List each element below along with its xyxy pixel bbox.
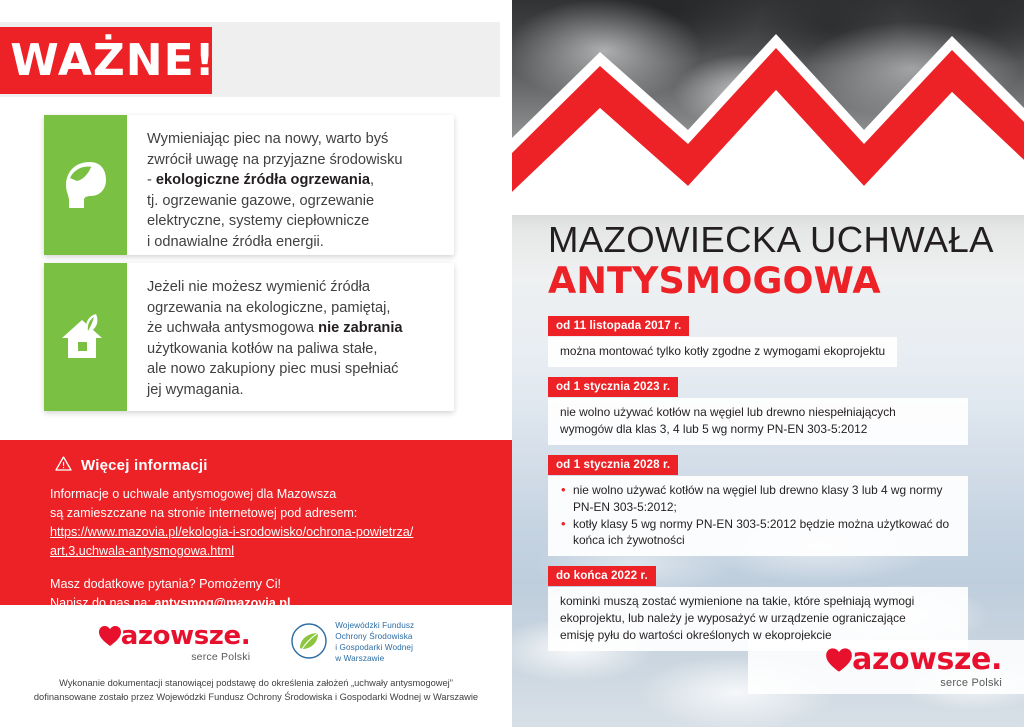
card2-line-2-bold: nie zabrania <box>318 320 402 336</box>
red-zigzag-mountain-icon <box>512 0 1024 215</box>
mazowsze-tagline: serce Polski <box>191 651 250 663</box>
card1-line-3: tj. ogrzewanie gazowe, ogrzewanie <box>147 193 374 209</box>
timeline-body: można montować tylko kotły zgodne z wymo… <box>548 337 897 367</box>
eco-sources-text: Wymieniając piec na nowy, warto byś zwró… <box>127 115 454 255</box>
leaf-circle-icon <box>290 622 328 665</box>
card2-line-0: Jeżeli nie możesz wymienić źródła <box>147 279 370 295</box>
timeline-0-line-0: można montować tylko kotły zgodne z wymo… <box>560 343 885 360</box>
card2-line-3: użytkowania kotłów na paliwa stałe, <box>147 341 377 357</box>
contact-email[interactable]: antysmog@mazovia.pl <box>154 596 290 610</box>
important-badge: WAŻNE! <box>0 27 212 94</box>
card2-line-2-prefix: że uchwała antysmogowa <box>147 320 318 336</box>
card1-line-4: elektryczne, systemy ciepłownicze <box>147 213 369 229</box>
timeline-3-line-1: ekoprojektu, lub należy je wyposażyć w u… <box>560 610 956 627</box>
info-line-4-prefix: Napisz do nas na: <box>50 596 154 610</box>
wfos-logo: Wojewódzki Fundusz Ochrony Środowiska i … <box>290 621 414 665</box>
card1-line-2-bold: ekologiczne źródła ogrzewania <box>156 172 370 188</box>
mazowsze-heart-icon <box>825 647 852 673</box>
wfos-line-3: w Warszawie <box>335 654 414 665</box>
funding-note-line-1: Wykonanie dokumentacji stanowiącej podst… <box>10 676 502 690</box>
timeline-date-badge: do końca 2022 r. <box>548 566 656 586</box>
brochure-page: WAŻNE! Wymieniając piec na nowy, warto b… <box>0 0 1024 727</box>
solid-fuel-text: Jeżeli nie możesz wymienić źródła ogrzew… <box>127 263 454 411</box>
solid-fuel-card: Jeżeli nie możesz wymienić źródła ogrzew… <box>44 263 454 411</box>
mazovia-url-line-2[interactable]: art,3,uchwala-antysmogowa.html <box>50 542 480 561</box>
card2-line-4: ale nowo zakupiony piec musi spełniać <box>147 361 398 377</box>
info-line-3: Masz dodatkowe pytania? Pomożemy Ci! <box>50 577 281 591</box>
right-panel: MAZOWIECKA UCHWAŁA ANTYSMOGOWA od 11 lis… <box>512 0 1024 727</box>
card1-line-1: zwrócił uwagę na przyjazne środowisku <box>147 152 403 168</box>
info-line-1: Informacje o uchwale antysmogowej dla Ma… <box>50 487 336 501</box>
important-badge-label: WAŻNE! <box>0 39 224 83</box>
timeline-date-badge: od 1 stycznia 2028 r. <box>548 455 678 475</box>
eco-sources-card: Wymieniając piec na nowy, warto byś zwró… <box>44 115 454 255</box>
wfos-logo-text: Wojewódzki Fundusz Ochrony Środowiska i … <box>335 621 414 665</box>
mazowsze-word-text: azowsze. <box>852 645 1002 675</box>
card1-line-0: Wymieniając piec na nowy, warto byś <box>147 131 388 147</box>
timeline-item: od 11 listopada 2017 r. można montować t… <box>548 316 968 367</box>
main-title: MAZOWIECKA UCHWAŁA ANTYSMOGOWA <box>548 220 1018 302</box>
timeline-item: od 1 stycznia 2023 r. nie wolno używać k… <box>548 377 968 445</box>
card1-line-2-suffix: , <box>370 172 374 188</box>
mazowsze-word-text: azowsze. <box>121 623 250 649</box>
card2-line-5: jej wymagania. <box>147 382 244 398</box>
mazowsze-wordmark: azowsze. <box>825 645 1002 675</box>
wfos-line-1: Ochrony Środowiska <box>335 632 414 643</box>
mazowsze-heart-icon <box>98 625 121 647</box>
funding-note: Wykonanie dokumentacji stanowiącej podst… <box>0 676 512 705</box>
timeline-3-line-0: kominki muszą zostać wymienione na takie… <box>560 593 956 610</box>
wfos-line-2: i Gospodarki Wodnej <box>335 643 414 654</box>
timeline-item: od 1 stycznia 2028 r. nie wolno używać k… <box>548 455 968 557</box>
timeline-body: nie wolno używać kotłów na węgiel lub dr… <box>548 398 968 445</box>
timeline-body: nie wolno używać kotłów na węgiel lub dr… <box>548 476 968 557</box>
mazowsze-logo-right: azowsze. serce Polski <box>748 640 1024 694</box>
wfos-line-0: Wojewódzki Fundusz <box>335 621 414 632</box>
title-line-1: MAZOWIECKA UCHWAŁA <box>548 220 1018 259</box>
footer-logos: azowsze. serce Polski Wojewódzki Fundusz… <box>0 614 512 672</box>
more-info-body: Informacje o uchwale antysmogowej dla Ma… <box>50 485 480 613</box>
timeline-2-item-1: kotły klasy 5 wg normy PN-EN 303-5:2012 … <box>560 516 956 550</box>
house-leaf-icon <box>44 263 127 411</box>
card2-line-1: ogrzewania na ekologiczne, pamiętaj, <box>147 300 390 316</box>
mazowsze-wordmark: azowsze. <box>98 623 250 649</box>
card1-line-2-prefix: - <box>147 172 156 188</box>
mazovia-url-line-1[interactable]: https://www.mazovia.pl/ekologia-i-srodow… <box>50 523 480 542</box>
card1-line-5: i odnawialne źródła energii. <box>147 234 324 250</box>
info-spacer <box>50 562 480 575</box>
more-info-band: Więcej informacji Informacje o uchwale a… <box>0 440 512 605</box>
mazowsze-logo-left: azowsze. serce Polski <box>98 623 250 663</box>
mazowsze-tagline: serce Polski <box>940 677 1002 689</box>
timeline-1-line-1: wymogów dla klas 3, 4 lub 5 wg normy PN-… <box>560 421 956 438</box>
timeline-2-list: nie wolno używać kotłów na węgiel lub dr… <box>560 482 956 550</box>
timeline-item: do końca 2022 r. kominki muszą zostać wy… <box>548 566 968 651</box>
left-panel: WAŻNE! Wymieniając piec na nowy, warto b… <box>0 0 512 727</box>
timeline-1-line-0: nie wolno używać kotłów na węgiel lub dr… <box>560 404 956 421</box>
more-info-heading: Więcej informacji <box>81 457 208 474</box>
timeline-date-badge: od 1 stycznia 2023 r. <box>548 377 678 397</box>
more-info-heading-row: Więcej informacji <box>55 456 208 475</box>
timeline-date-badge: od 11 listopada 2017 r. <box>548 316 689 336</box>
warning-triangle-icon <box>55 456 72 475</box>
funding-note-line-2: dofinansowane zostało przez Wojewódzki F… <box>10 690 502 704</box>
head-leaf-icon <box>44 115 127 255</box>
info-line-2: są zamieszczane na stronie internetowej … <box>50 506 357 520</box>
title-line-2: ANTYSMOGOWA <box>548 261 1018 302</box>
regulations-timeline: od 11 listopada 2017 r. można montować t… <box>548 316 968 661</box>
timeline-2-item-0: nie wolno używać kotłów na węgiel lub dr… <box>560 482 956 516</box>
